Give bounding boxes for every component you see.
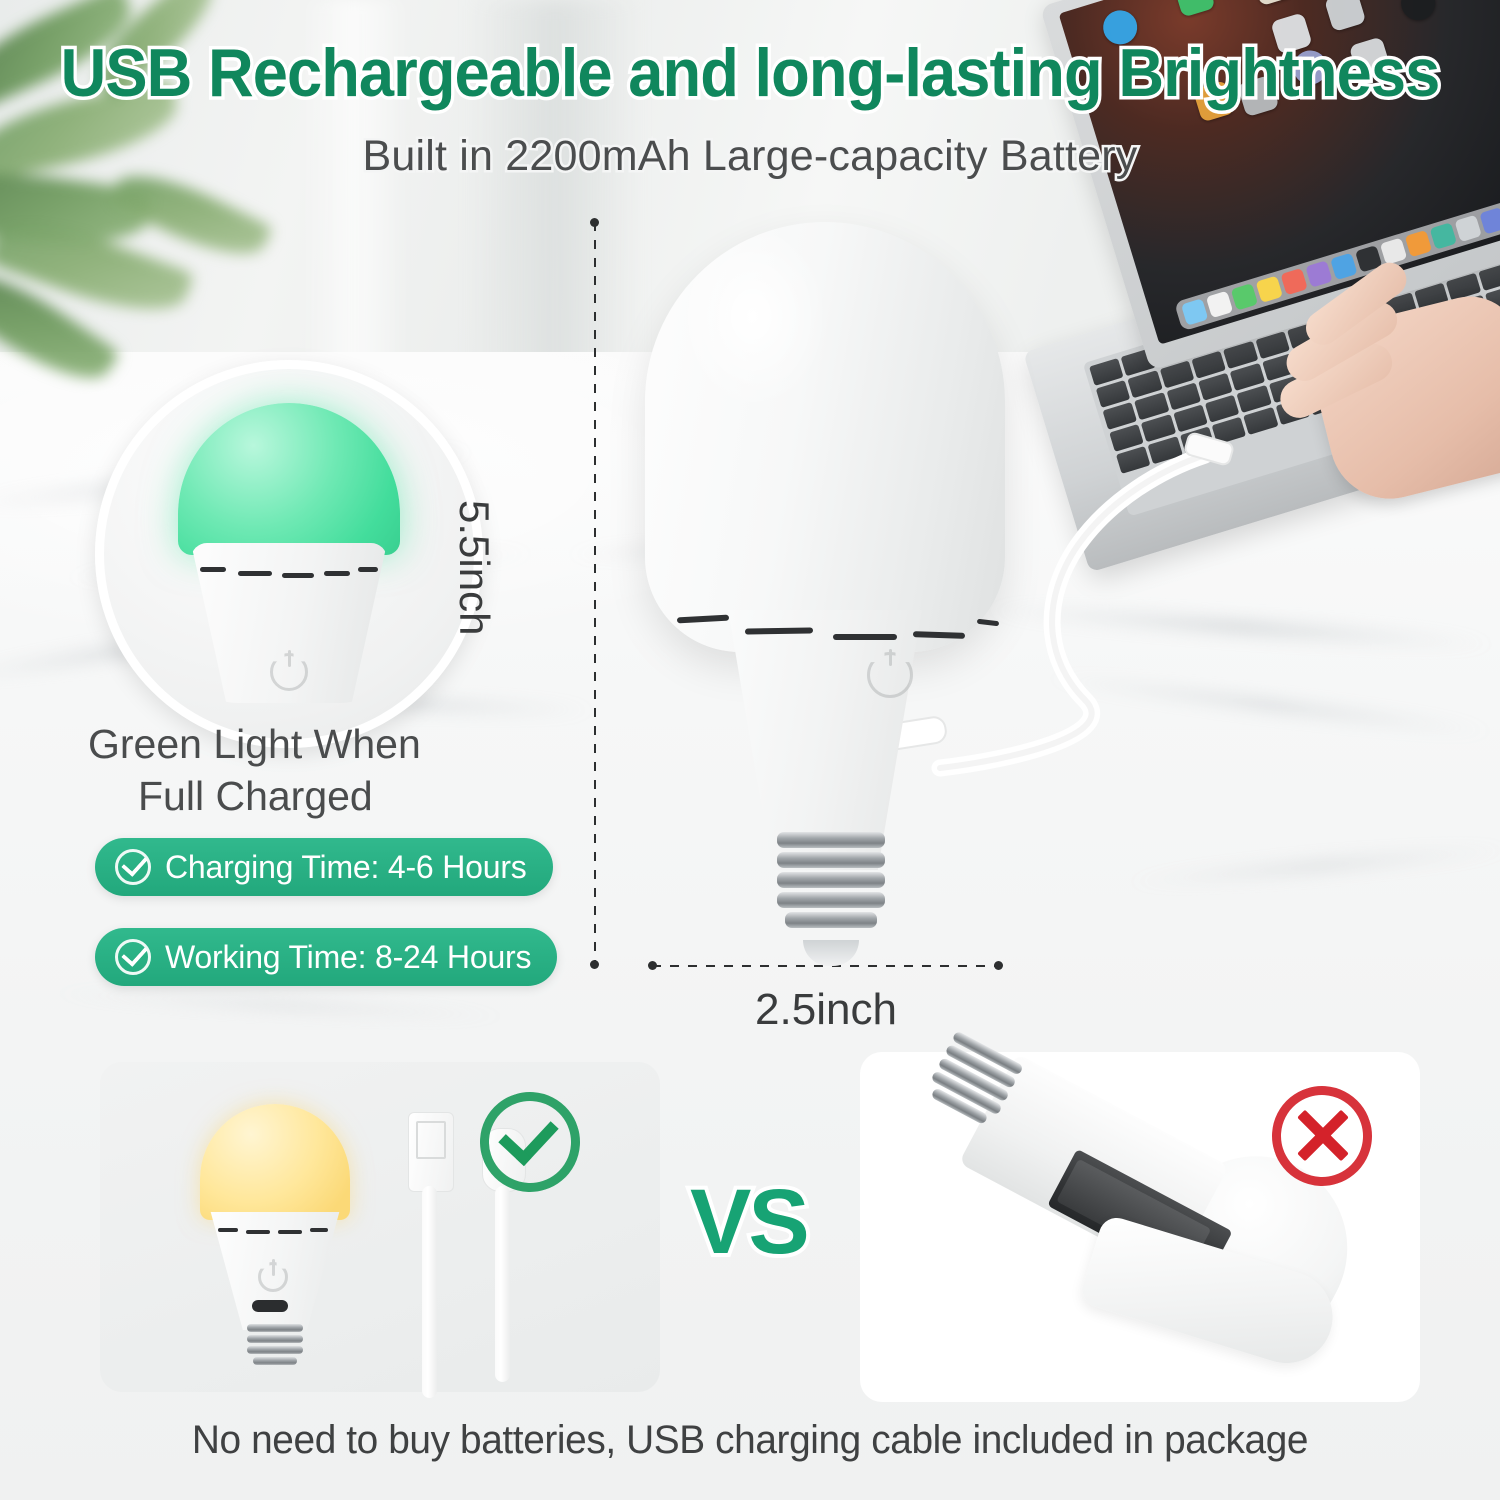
vent-slot — [246, 1230, 270, 1234]
dimension-endpoint — [590, 218, 599, 227]
vent-slot — [977, 619, 999, 627]
vs-label: VS — [690, 1170, 807, 1275]
power-icon — [270, 653, 308, 691]
callout-caption-line2: Full Charged — [88, 770, 558, 822]
check-mark-icon — [480, 1092, 580, 1192]
vent-slot — [238, 571, 272, 576]
dimension-endpoint — [590, 960, 599, 969]
bulb-body — [715, 610, 935, 870]
main-bulb — [645, 222, 1005, 942]
vent-slot — [278, 1230, 302, 1234]
usb-c-port — [252, 1300, 288, 1312]
green-glow-dome — [178, 403, 400, 555]
vent-slot — [833, 634, 897, 640]
badge-charging-time: Charging Time: 4-6 Hours — [95, 838, 553, 896]
rechargeable-bulb — [200, 1104, 350, 1362]
badge-label: Charging Time: 4-6 Hours — [165, 849, 527, 886]
power-icon — [258, 1262, 288, 1292]
warm-glow-dome — [200, 1104, 350, 1220]
bulb-dome — [645, 222, 1005, 652]
vent-slot — [324, 571, 350, 576]
vent-slot — [358, 567, 378, 572]
power-icon — [867, 652, 913, 698]
vent-slot — [200, 567, 226, 572]
vent-slot — [218, 1228, 238, 1232]
vent-slot — [310, 1228, 328, 1232]
vent-slot — [745, 627, 813, 634]
check-circle-icon — [115, 849, 151, 885]
dimension-endpoint — [994, 961, 1003, 970]
callout-caption-line1: Green Light When — [88, 721, 421, 767]
height-dimension-label: 5.5inch — [450, 500, 498, 635]
page-subtitle: Built in 2200mAh Large-capacity Battery — [0, 132, 1500, 181]
product-infographic: USB Rechargeable and long-lasting Bright… — [0, 0, 1500, 1500]
battery-powered-bulb — [858, 991, 1382, 1428]
dimension-endpoint — [648, 961, 657, 970]
footer-caption: No need to buy batteries, USB charging c… — [23, 1418, 1478, 1463]
e27-screw-base — [247, 1324, 303, 1372]
callout-bulb — [178, 403, 400, 703]
check-circle-icon — [115, 939, 151, 975]
callout-caption: Green Light When Full Charged — [88, 718, 558, 823]
vent-slot — [282, 573, 314, 578]
width-dimension-label: 2.5inch — [652, 985, 1000, 1035]
badge-label: Working Time: 8-24 Hours — [165, 939, 531, 976]
cross-mark-icon — [1272, 1086, 1372, 1186]
page-title: USB Rechargeable and long-lasting Bright… — [53, 34, 1448, 112]
height-dimension-line — [594, 222, 596, 966]
e27-screw-base — [777, 832, 885, 950]
badge-working-time: Working Time: 8-24 Hours — [95, 928, 557, 986]
green-light-callout — [95, 360, 483, 748]
